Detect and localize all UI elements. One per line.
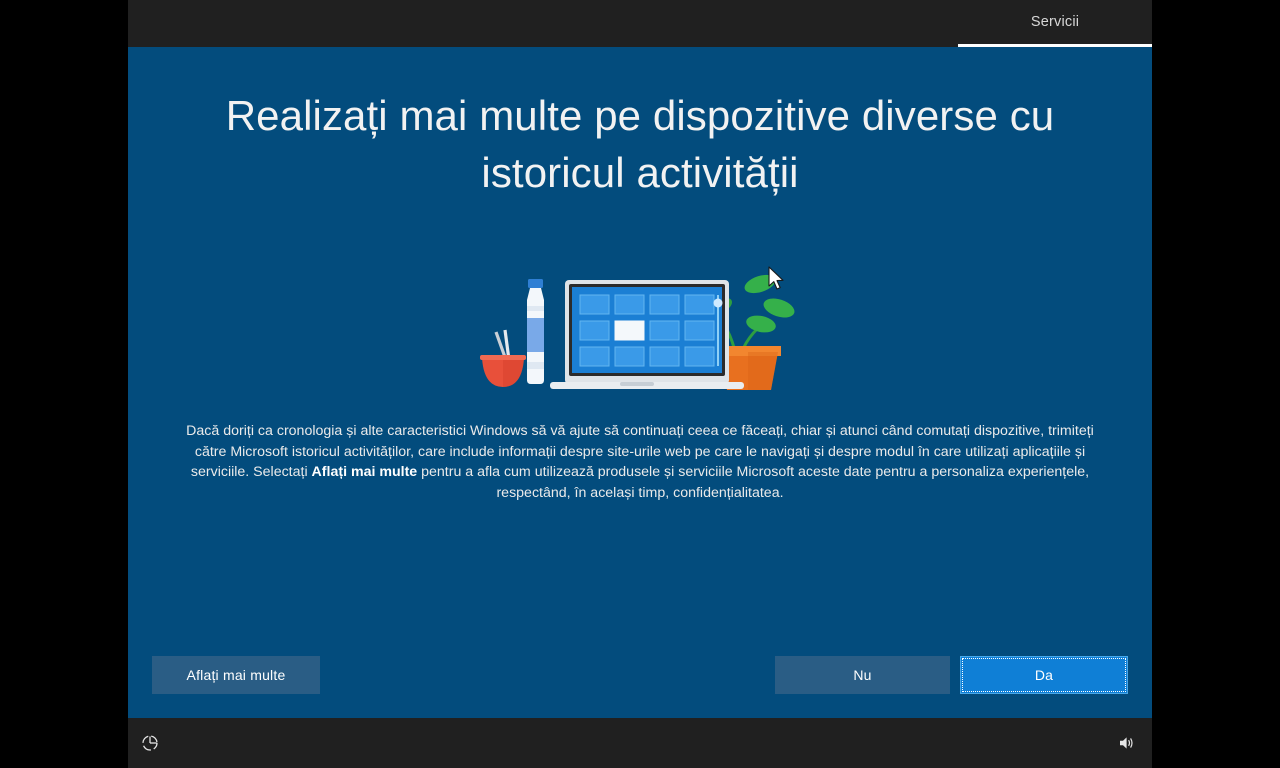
bottom-taskbar	[128, 718, 1152, 768]
no-button[interactable]: Nu	[775, 656, 950, 694]
tab-servicii-label: Servicii	[1031, 14, 1079, 30]
yes-button[interactable]: Da	[960, 656, 1128, 694]
body-text-bold: Aflați mai multe	[312, 464, 418, 480]
water-bottle-icon	[527, 279, 544, 384]
no-button-label: Nu	[853, 667, 871, 683]
screen-root: Servicii Realizați mai multe pe dispozit…	[0, 0, 1280, 768]
body-description: Dacă doriți ca cronologia și alte caract…	[180, 421, 1100, 503]
laptop-icon	[550, 280, 744, 389]
oobe-window: Servicii Realizați mai multe pe dispozit…	[128, 0, 1152, 768]
page-content: Realizați mai multe pe dispozitive diver…	[128, 47, 1152, 718]
ease-of-access-icon[interactable]	[138, 731, 162, 755]
tab-servicii[interactable]: Servicii	[958, 0, 1152, 47]
noodle-bowl-icon	[480, 330, 526, 387]
yes-button-label: Da	[1035, 667, 1053, 683]
volume-speaker-icon[interactable]	[1114, 731, 1138, 755]
page-title: Realizați mai multe pe dispozitive diver…	[188, 87, 1092, 201]
activity-history-illustration	[480, 262, 800, 397]
window-top-bar: Servicii	[128, 0, 1152, 47]
learn-more-button-label: Aflați mai multe	[187, 667, 286, 683]
learn-more-button[interactable]: Aflați mai multe	[152, 656, 320, 694]
body-text-part2: pentru a afla cum utilizează produsele ș…	[417, 464, 1089, 501]
